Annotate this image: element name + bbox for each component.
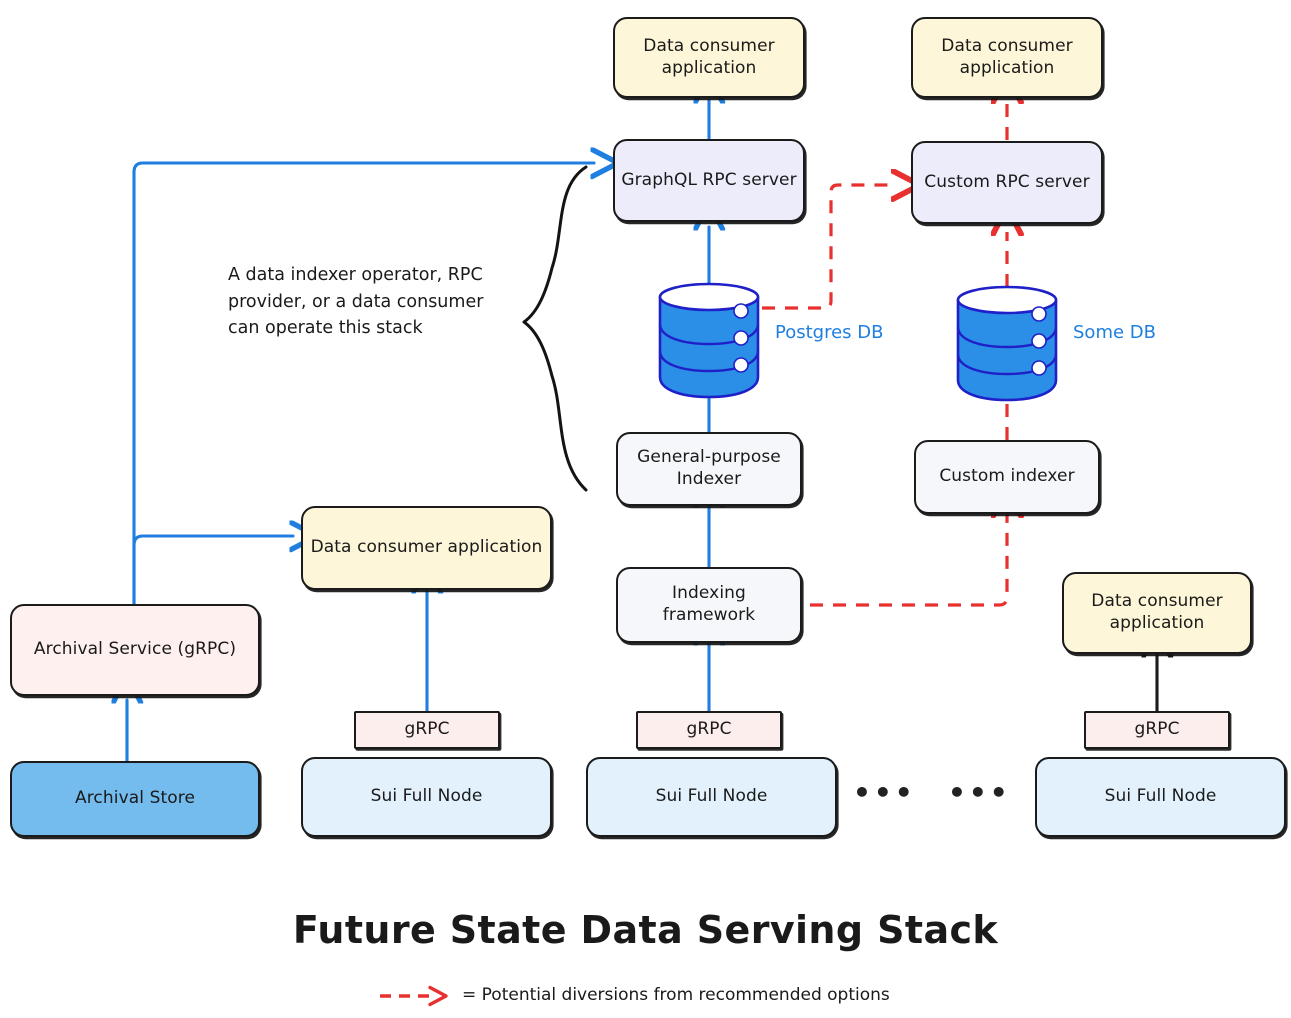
node-label: Indexing framework	[618, 583, 800, 627]
node-data-consumer-application-archival[interactable]: Data consumer application	[301, 506, 552, 590]
node-label: Data consumer application	[305, 537, 549, 559]
ellipsis-left: •••	[853, 779, 916, 807]
node-label: Archival Store	[69, 788, 201, 810]
node-sui-full-node-right[interactable]: Sui Full Node	[1035, 757, 1286, 837]
node-label: Sui Full Node	[365, 786, 489, 808]
some-db-label: Some DB	[1073, 322, 1156, 343]
some-db-cylinder	[958, 287, 1056, 400]
node-custom-rpc-server[interactable]: Custom RPC server	[911, 141, 1103, 224]
node-grpc-left[interactable]: gRPC	[354, 711, 500, 749]
node-grpc-mid[interactable]: gRPC	[636, 711, 782, 749]
diagram-title: Future State Data Serving Stack	[0, 908, 1291, 952]
node-label: Archival Service (gRPC)	[28, 639, 242, 661]
node-sui-full-node-left[interactable]: Sui Full Node	[301, 757, 552, 837]
node-general-purpose-indexer[interactable]: General-purpose Indexer	[616, 432, 802, 506]
node-data-consumer-application-fullnode[interactable]: Data consumer application	[1062, 572, 1252, 654]
node-label: Sui Full Node	[650, 786, 774, 808]
node-label: General-purpose Indexer	[618, 447, 800, 491]
node-indexing-framework[interactable]: Indexing framework	[616, 567, 802, 643]
node-label: Custom RPC server	[918, 172, 1095, 194]
node-label: Sui Full Node	[1099, 786, 1223, 808]
node-grpc-right[interactable]: gRPC	[1084, 711, 1230, 749]
legend-text: = Potential diversions from recommended …	[462, 985, 890, 1005]
postgres-db-label: Postgres DB	[775, 322, 883, 343]
node-label: Data consumer application	[913, 36, 1101, 80]
node-label: GraphQL RPC server	[615, 170, 802, 192]
node-custom-indexer[interactable]: Custom indexer	[914, 440, 1100, 514]
node-archival-store[interactable]: Archival Store	[10, 761, 260, 837]
postgres-db-cylinder	[660, 284, 758, 397]
node-sui-full-node-mid[interactable]: Sui Full Node	[586, 757, 837, 837]
node-label: Data consumer application	[1064, 591, 1250, 635]
node-label: gRPC	[680, 719, 737, 741]
diagram-canvas: Data consumer application Data consumer …	[0, 0, 1291, 1018]
node-archival-service[interactable]: Archival Service (gRPC)	[10, 604, 260, 696]
node-label: gRPC	[398, 719, 455, 741]
node-graphql-rpc-server[interactable]: GraphQL RPC server	[613, 139, 805, 222]
node-label: Data consumer application	[615, 36, 803, 80]
ellipsis-right: •••	[948, 779, 1011, 807]
node-label: gRPC	[1128, 719, 1185, 741]
node-label: Custom indexer	[933, 466, 1080, 488]
node-data-consumer-application-custom[interactable]: Data consumer application	[911, 17, 1103, 98]
node-data-consumer-application-graphql[interactable]: Data consumer application	[613, 17, 805, 98]
legend-dashed-arrow-icon	[378, 983, 464, 1009]
annotation-text: A data indexer operator, RPC provider, o…	[228, 262, 508, 342]
